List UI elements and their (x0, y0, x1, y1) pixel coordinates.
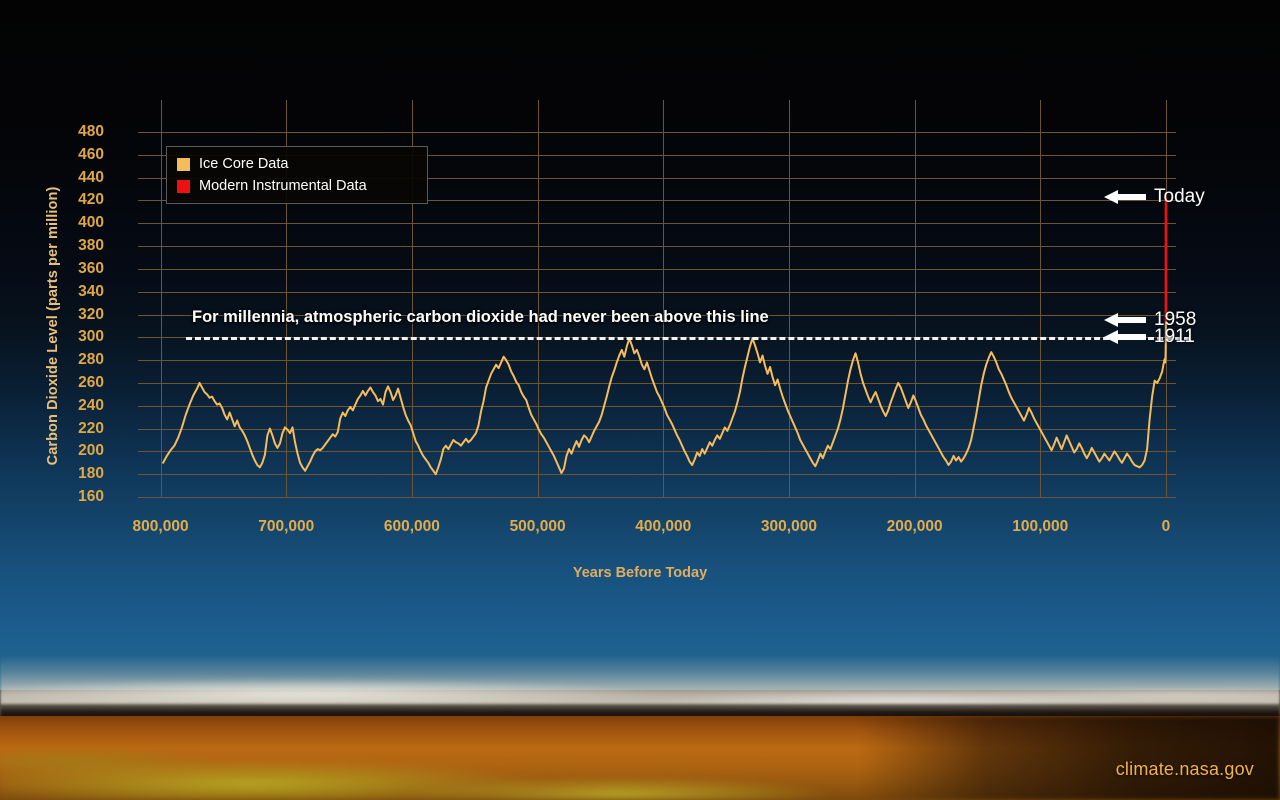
nasa-co2-infographic: Carbon Dioxide Level (parts per million)… (0, 0, 1280, 800)
annotation-today: Today (1104, 186, 1205, 208)
threshold-dashed-line (186, 337, 1190, 340)
annotation-label-1911: 1911 (1154, 326, 1195, 348)
legend-label-ice-core: Ice Core Data (199, 157, 288, 172)
left-arrow-icon (1104, 189, 1146, 205)
annotation-1911: 1911 (1104, 326, 1195, 348)
source-url: climate.nasa.gov (1116, 759, 1254, 780)
legend-label-modern: Modern Instrumental Data (199, 179, 367, 194)
annotation-label-today: Today (1154, 186, 1205, 208)
chart-legend: Ice Core Data Modern Instrumental Data (166, 146, 428, 204)
co2-chart: Carbon Dioxide Level (parts per million)… (0, 0, 1280, 800)
ice-core-data-line (163, 320, 1166, 474)
legend-item-ice-core: Ice Core Data (177, 153, 417, 175)
legend-swatch-ice-core (177, 158, 190, 171)
legend-item-modern: Modern Instrumental Data (177, 175, 417, 197)
left-arrow-icon (1104, 329, 1146, 345)
legend-swatch-modern (177, 180, 190, 193)
series-paths (0, 0, 1280, 800)
threshold-caption: For millennia, atmospheric carbon dioxid… (192, 308, 769, 327)
